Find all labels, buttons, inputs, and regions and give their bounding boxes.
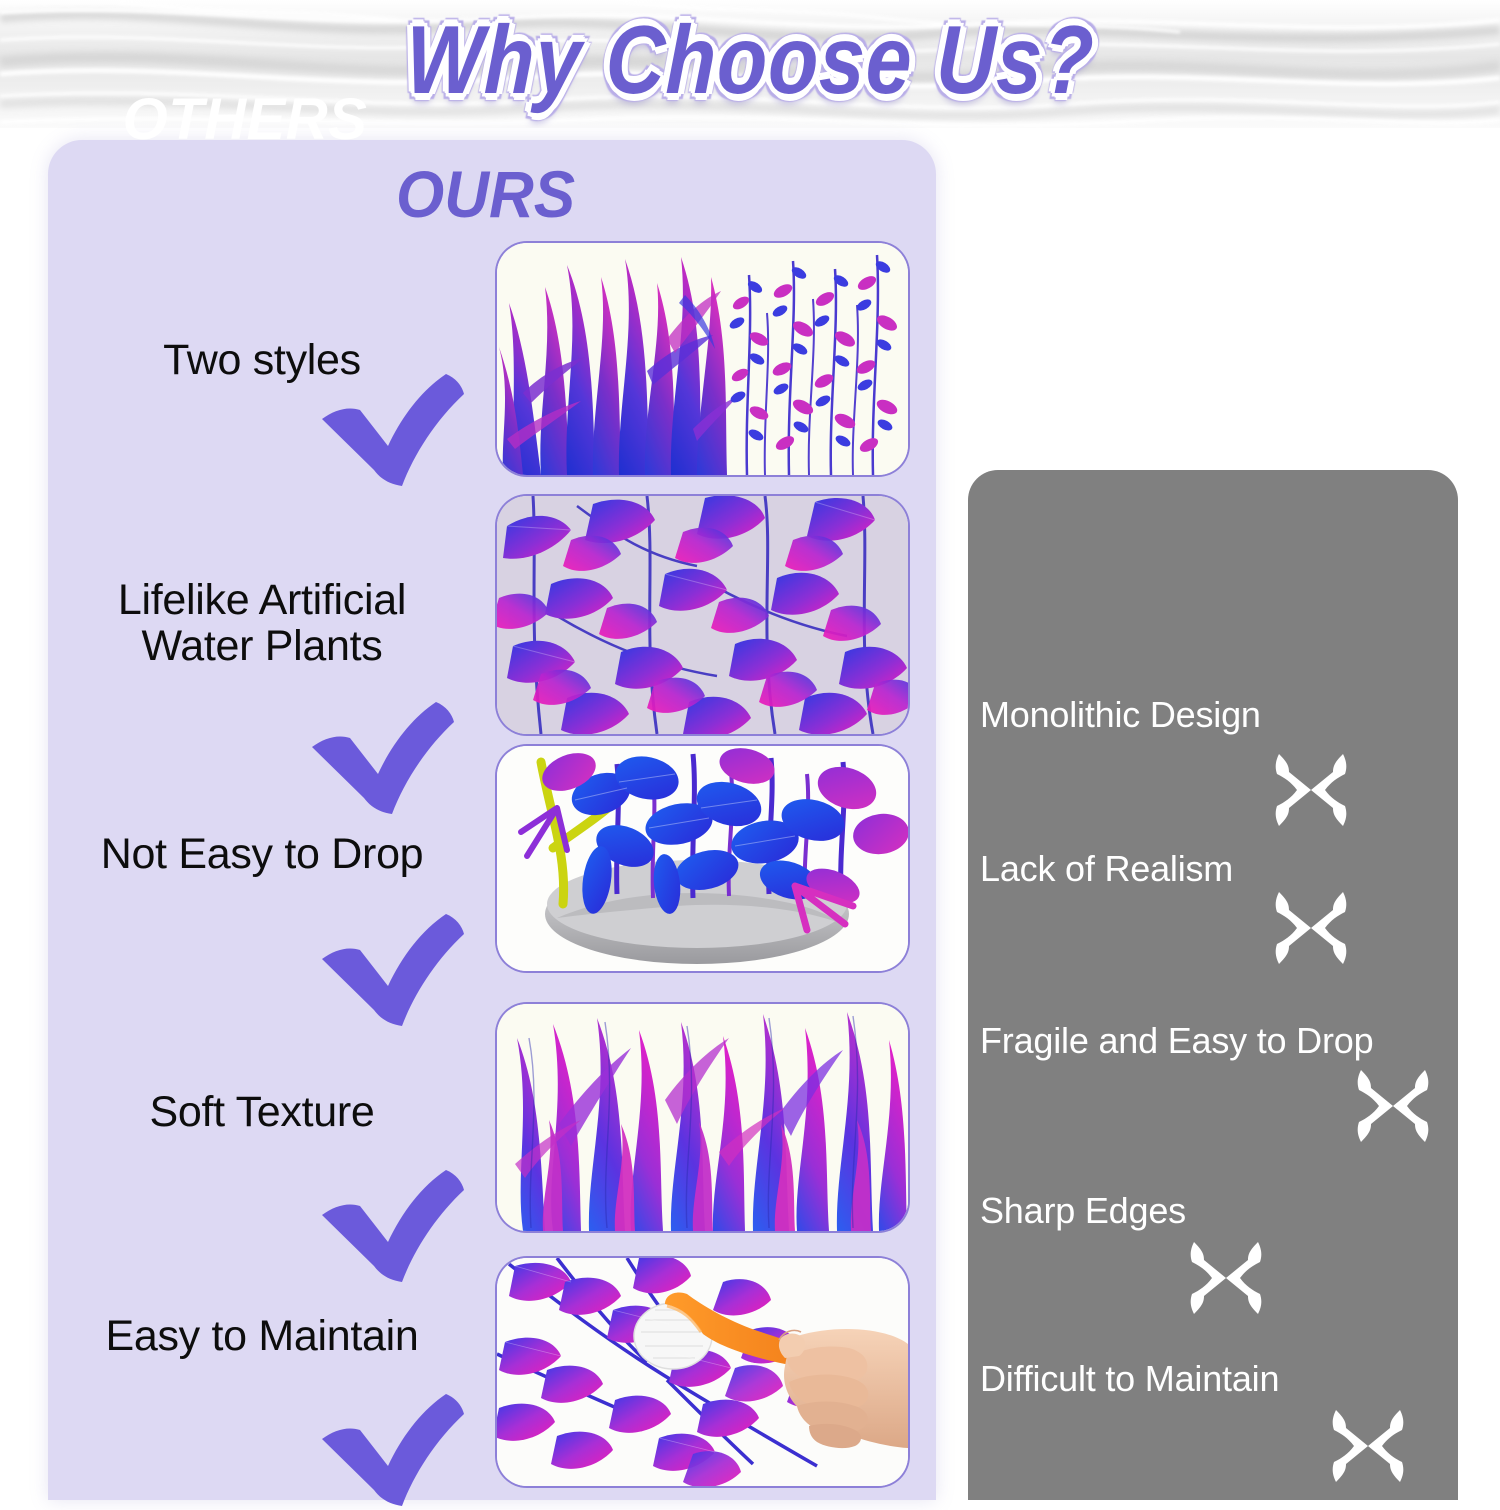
- product-photo-not-easy-drop: [497, 746, 908, 971]
- feature-row-lifelike: Lifelike Artificial Water Plants: [62, 578, 462, 669]
- check-mark-icon: [318, 372, 468, 490]
- feature-row-easy-maintain: Easy to Maintain: [62, 1314, 462, 1360]
- cross-mark-icon: [1188, 1240, 1264, 1316]
- feature-label: Easy to Maintain: [62, 1314, 462, 1360]
- feature-row-not-easy-drop: Not Easy to Drop: [62, 832, 462, 878]
- other-row-lack-of-realism: Lack of Realism: [980, 848, 1233, 890]
- check-mark-icon: [318, 912, 468, 1030]
- other-row-monolithic-design: Monolithic Design: [980, 694, 1261, 736]
- cross-mark-icon: [1273, 752, 1349, 828]
- other-label: Lack of Realism: [980, 848, 1233, 890]
- feature-label: Soft Texture: [62, 1090, 462, 1136]
- others-panel: [968, 470, 1458, 1500]
- feature-label: Lifelike Artificial Water Plants: [62, 578, 462, 669]
- other-row-fragile: Fragile and Easy to Drop: [980, 1020, 1373, 1062]
- product-photo-two-styles: [497, 243, 908, 475]
- ours-heading: OURS: [396, 158, 575, 233]
- check-mark-icon: [308, 700, 458, 818]
- other-row-difficult-maintain: Difficult to Maintain: [980, 1358, 1279, 1400]
- cross-mark-icon: [1355, 1068, 1431, 1144]
- check-mark-icon: [318, 1168, 468, 1286]
- check-mark-icon: [318, 1392, 468, 1510]
- cross-mark-icon: [1273, 890, 1349, 966]
- other-label: Monolithic Design: [980, 694, 1261, 736]
- header-banner: Why Choose Us?: [0, 0, 1500, 128]
- product-photo-lifelike: [497, 496, 908, 734]
- page-title: Why Choose Us?: [404, 13, 1095, 110]
- cross-mark-icon: [1330, 1408, 1406, 1484]
- feature-row-soft-texture: Soft Texture: [62, 1090, 462, 1136]
- other-label: Difficult to Maintain: [980, 1358, 1279, 1400]
- other-label: Sharp Edges: [980, 1190, 1186, 1232]
- product-photo-easy-maintain: [497, 1258, 908, 1486]
- other-row-sharp-edges: Sharp Edges: [980, 1190, 1186, 1232]
- feature-label: Not Easy to Drop: [62, 832, 462, 878]
- other-label: Fragile and Easy to Drop: [980, 1020, 1373, 1062]
- product-photo-soft-texture: [497, 1004, 908, 1231]
